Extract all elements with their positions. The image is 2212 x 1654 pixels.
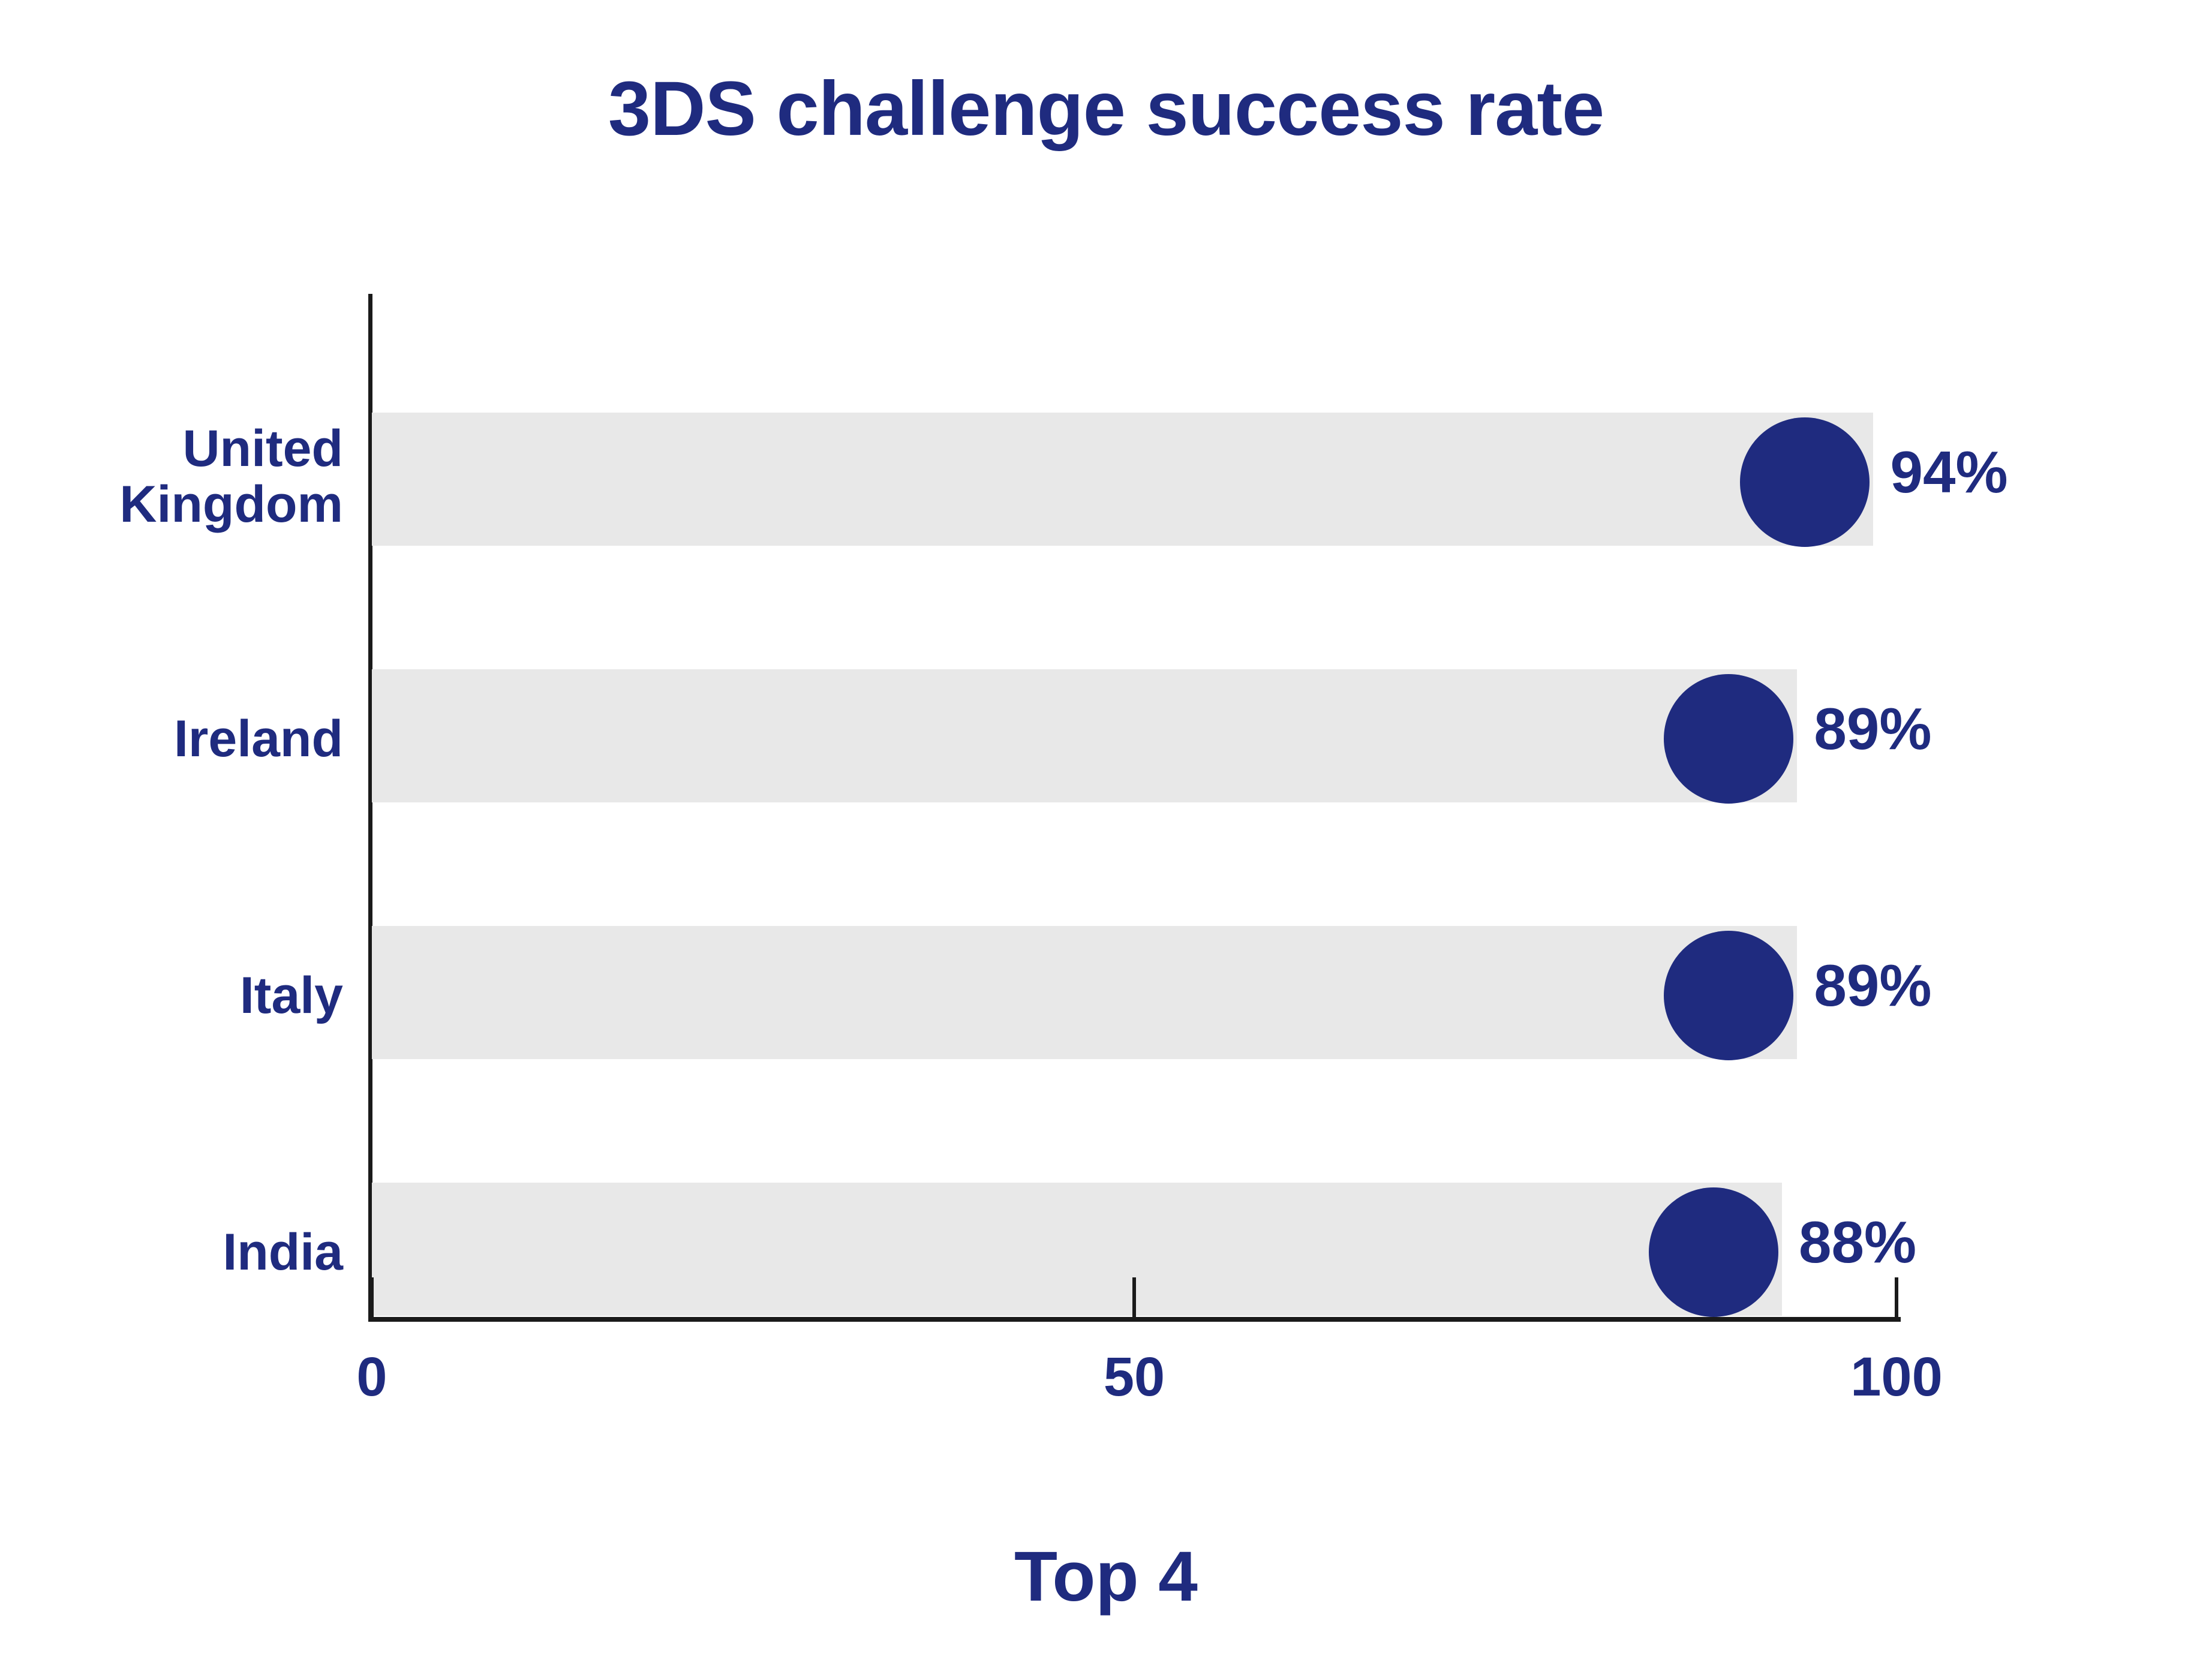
bar-track	[372, 669, 1797, 802]
bar-track	[372, 1183, 1782, 1316]
data-value-label: 89%	[1814, 699, 1931, 758]
data-point-marker[interactable]	[1740, 417, 1870, 547]
data-point-marker[interactable]	[1664, 931, 1793, 1060]
x-axis-tick	[1895, 1277, 1898, 1317]
category-label: Italy	[0, 968, 343, 1024]
bar-row: 89%Ireland	[372, 611, 1897, 867]
chart-title: 3DS challenge success rate	[0, 71, 2212, 148]
data-value-label: 94%	[1890, 443, 2007, 501]
x-axis-tick	[1132, 1277, 1136, 1317]
category-label: United Kingdom	[0, 421, 343, 533]
data-value-label: 89%	[1814, 956, 1931, 1015]
x-axis-tick-label: 0	[356, 1349, 387, 1405]
chart-figure: 3DS challenge success rate 94%United Kin…	[0, 0, 2212, 1654]
x-axis-tick-label: 50	[1104, 1349, 1165, 1405]
category-label: India	[0, 1225, 343, 1280]
bar-track	[372, 413, 1873, 546]
category-label: Ireland	[0, 711, 343, 767]
chart-caption: Top 4	[0, 1541, 2212, 1612]
data-point-marker[interactable]	[1649, 1187, 1778, 1317]
bar-row: 94%United Kingdom	[372, 354, 1897, 611]
x-axis-tick-label: 100	[1850, 1349, 1943, 1405]
bar-track	[372, 926, 1797, 1059]
plot-area: 94%United Kingdom89%Ireland89%Italy88%In…	[372, 294, 1897, 1317]
bar-row: 88%India	[372, 1124, 1897, 1381]
data-value-label: 88%	[1799, 1213, 1916, 1271]
data-point-marker[interactable]	[1664, 674, 1793, 804]
x-axis-tick	[370, 1277, 374, 1317]
bar-row: 89%Italy	[372, 867, 1897, 1124]
